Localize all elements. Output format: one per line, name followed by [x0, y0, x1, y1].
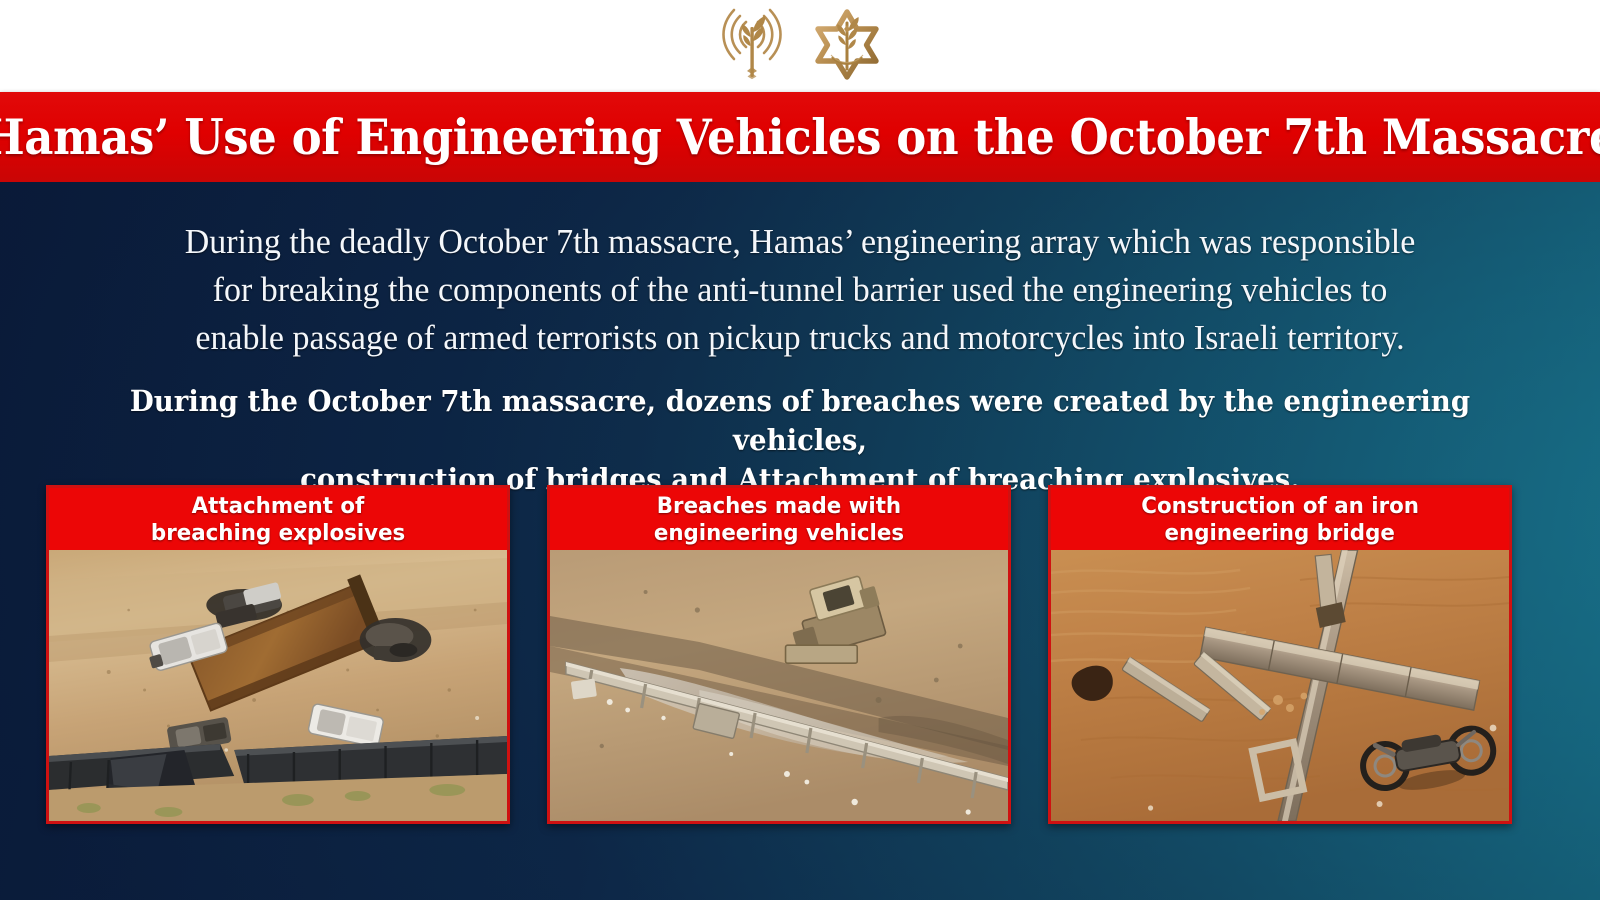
poster-root: Hamas’ Use of Engineering Vehicles on th…	[0, 0, 1600, 900]
card-2-caption-line-1: Breaches made with	[657, 493, 901, 520]
card-2-caption-line-2: engineering vehicles	[654, 520, 904, 547]
aerial-photo-destroyed-vehicles-at-barrier	[49, 550, 507, 821]
card-3-caption: Construction of an iron engineering brid…	[1051, 488, 1509, 550]
broadcast-signal-emblem-icon	[716, 7, 788, 86]
photo-card-row: Attachment of breaching explosives	[46, 485, 1512, 824]
summary-paragraph: During the October 7th massacre, dozens …	[35, 382, 1565, 499]
card-1-caption: Attachment of breaching explosives	[49, 488, 507, 550]
idf-star-of-david-emblem-icon	[810, 7, 884, 86]
card-breaches-made-with-engineering-vehicles[interactable]: Breaches made with engineering vehicles	[547, 485, 1011, 824]
card-3-caption-line-1: Construction of an iron	[1141, 493, 1419, 520]
body-area: During the deadly October 7th massacre, …	[0, 182, 1600, 900]
card-1-caption-line-1: Attachment of	[192, 493, 365, 520]
intro-paragraph-line-1: During the deadly October 7th massacre, …	[106, 218, 1493, 266]
card-3-caption-line-2: engineering bridge	[1165, 520, 1395, 547]
intro-paragraph-line-3: enable passage of armed terrorists on pi…	[106, 314, 1493, 362]
page-title: Hamas’ Use of Engineering Vehicles on th…	[0, 113, 1600, 162]
aerial-photo-iron-bridge-beams-and-motorcycle	[1051, 550, 1509, 821]
intro-paragraph: During the deadly October 7th massacre, …	[85, 218, 1515, 362]
card-attachment-of-breaching-explosives[interactable]: Attachment of breaching explosives	[46, 485, 510, 824]
title-bar: Hamas’ Use of Engineering Vehicles on th…	[0, 92, 1600, 182]
intro-paragraph-line-2: for breaking the components of the anti-…	[106, 266, 1493, 314]
summary-paragraph-line-1: During the October 7th massacre, dozens …	[73, 382, 1527, 460]
card-1-caption-line-2: breaching explosives	[151, 520, 405, 547]
aerial-photo-bulldozer-breaching-fence	[550, 550, 1008, 821]
header-emblem-band	[0, 0, 1600, 92]
card-2-caption: Breaches made with engineering vehicles	[550, 488, 1008, 550]
card-construction-of-an-iron-engineering-bridge[interactable]: Construction of an iron engineering brid…	[1048, 485, 1512, 824]
